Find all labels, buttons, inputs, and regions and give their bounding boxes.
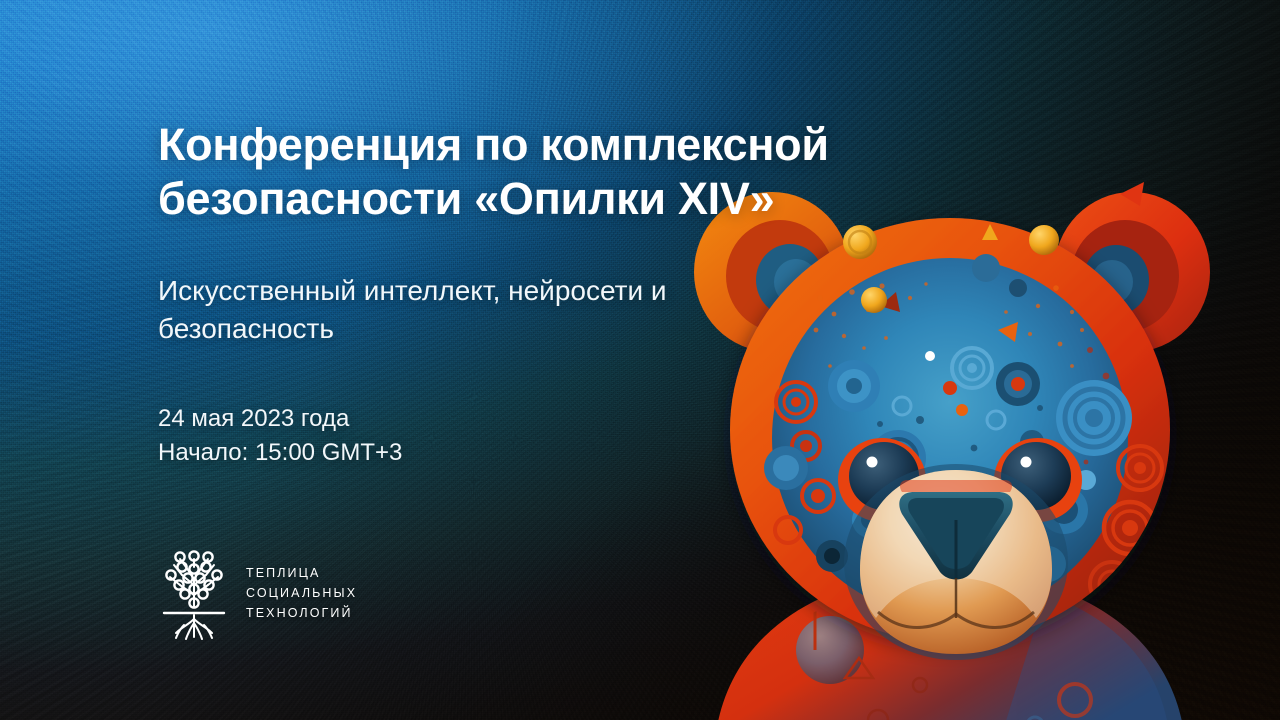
- logo-line-3: ТЕХНОЛОГИЙ: [246, 603, 357, 623]
- logo-line-1: ТЕПЛИЦА: [246, 563, 357, 583]
- bear-head: [730, 218, 1170, 660]
- banner-subtitle: Искусственный интеллект, нейросети и без…: [158, 272, 678, 348]
- page-title: Конференция по комплексной безопасности …: [158, 118, 978, 226]
- conference-banner: Конференция по комплексной безопасности …: [0, 0, 1280, 720]
- organization-logo[interactable]: ТЕПЛИЦА СОЦИАЛЬНЫХ ТЕХНОЛОГИЙ: [158, 545, 357, 641]
- bear-muzzle: [844, 464, 1068, 660]
- abstract-bear-illustration: [620, 180, 1280, 720]
- event-date: 24 мая 2023 года: [158, 402, 638, 436]
- logo-line-2: СОЦИАЛЬНЫХ: [246, 583, 357, 603]
- event-time: Начало: 15:00 GMT+3: [158, 436, 638, 470]
- tree-network-logo-icon: [158, 545, 230, 641]
- event-datetime: 24 мая 2023 года Начало: 15:00 GMT+3: [158, 402, 638, 470]
- organization-name: ТЕПЛИЦА СОЦИАЛЬНЫХ ТЕХНОЛОГИЙ: [246, 563, 357, 624]
- banner-content: Конференция по комплексной безопасности …: [158, 0, 718, 720]
